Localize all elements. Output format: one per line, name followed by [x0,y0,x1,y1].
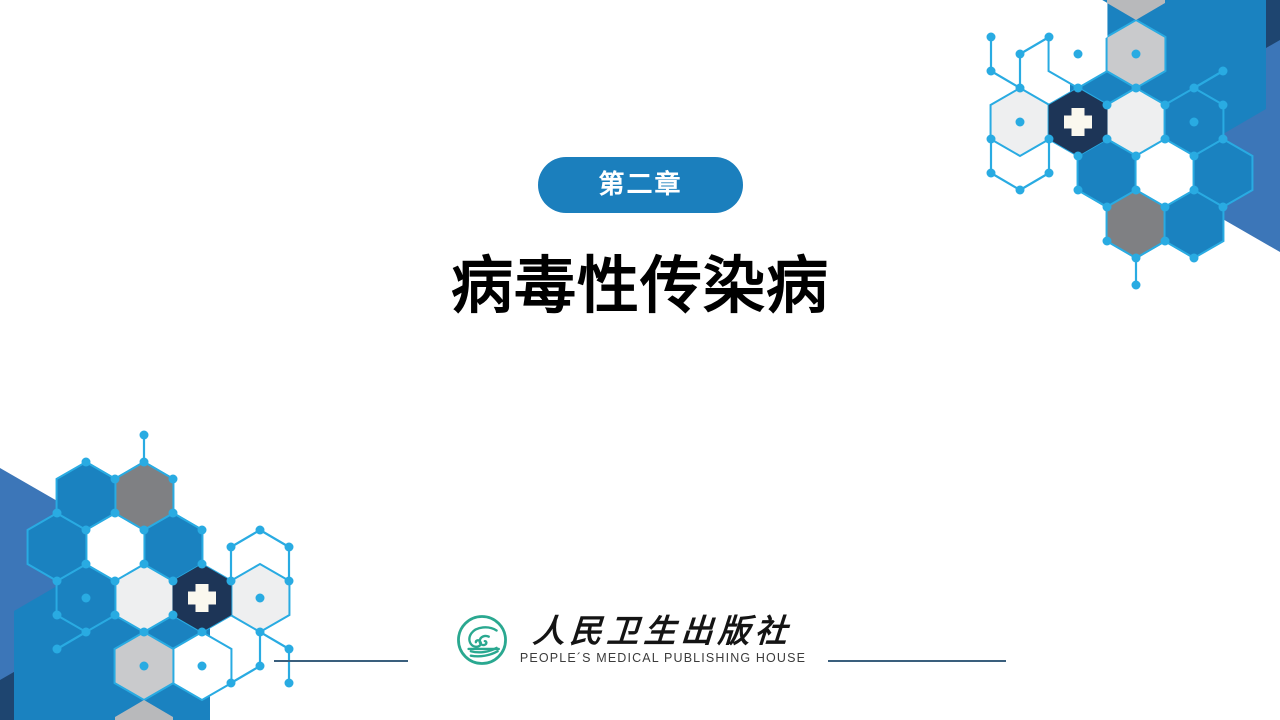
slide-content: 第二章 病毒性传染病 人民卫生出版社 PEOPLE [0,0,1280,720]
page-title: 病毒性传染病 [0,252,1280,320]
pmph-emblem-icon [454,612,510,668]
publisher-name-cn: 人民卫生出版社 [532,615,793,649]
chapter-badge-label: 第二章 [598,172,682,198]
chapter-badge: 第二章 [538,157,743,213]
footer-rule-right [828,660,1006,662]
publisher-logo-text: 人民卫生出版社 PEOPLE´S MEDICAL PUBLISHING HOUS… [520,615,806,664]
footer-rule-left [274,660,408,662]
publisher-name-en: PEOPLE´S MEDICAL PUBLISHING HOUSE [520,652,806,665]
slide-canvas: 第二章 病毒性传染病 人民卫生出版社 PEOPLE [0,0,1280,720]
slide-footer: 人民卫生出版社 PEOPLE´S MEDICAL PUBLISHING HOUS… [0,600,1280,680]
publisher-logo: 人民卫生出版社 PEOPLE´S MEDICAL PUBLISHING HOUS… [454,612,806,668]
